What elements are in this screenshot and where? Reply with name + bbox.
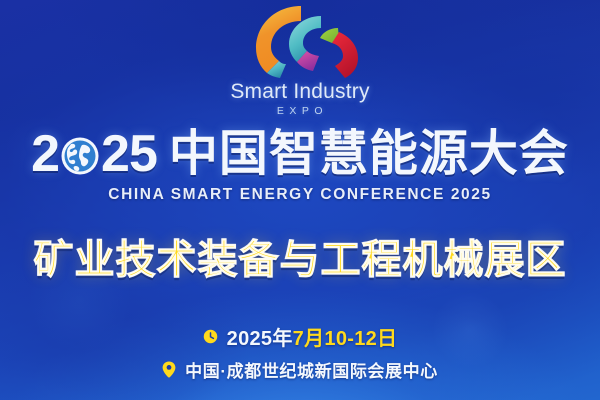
clock-icon <box>203 329 218 344</box>
zone-highlight-band: 矿业技术装备与工程机械展区 <box>0 238 600 283</box>
title-year-suffix: 25 <box>101 128 157 180</box>
smart-industry-swoosh-logo-icon <box>239 2 361 78</box>
event-date: 2025年7月10-12日 <box>227 322 398 351</box>
date-year: 2025年 <box>227 328 293 350</box>
event-location-line: 中国·成都世纪城新国际会展中心 <box>162 357 438 382</box>
map-pin-icon <box>162 361 176 378</box>
event-date-line: 2025年7月10-12日 <box>203 322 398 351</box>
english-subtitle: CHINA SMART ENERGY CONFERENCE 2025 <box>0 186 600 204</box>
event-logo: Smart Industry EXPO <box>0 2 600 117</box>
poster-content: Smart Industry EXPO 2 25 中国智慧能源大会 CHINA … <box>0 0 600 400</box>
zone-title: 矿业技术装备与工程机械展区 <box>34 238 567 283</box>
date-days: 10-12日 <box>324 328 397 350</box>
globe-icon <box>60 136 100 176</box>
event-location: 中国·成都世纪城新国际会展中心 <box>185 357 438 382</box>
page-title: 2 25 中国智慧能源大会 <box>0 128 600 180</box>
logo-subwordmark: EXPO <box>272 105 328 117</box>
title-chinese: 中国智慧能源大会 <box>169 130 569 179</box>
logo-wordmark: Smart Industry <box>230 80 369 104</box>
date-month: 7月 <box>293 328 325 350</box>
event-info: 2025年7月10-12日 中国·成都世纪城新国际会展中心 <box>0 322 600 382</box>
title-year-prefix: 2 <box>31 128 59 180</box>
